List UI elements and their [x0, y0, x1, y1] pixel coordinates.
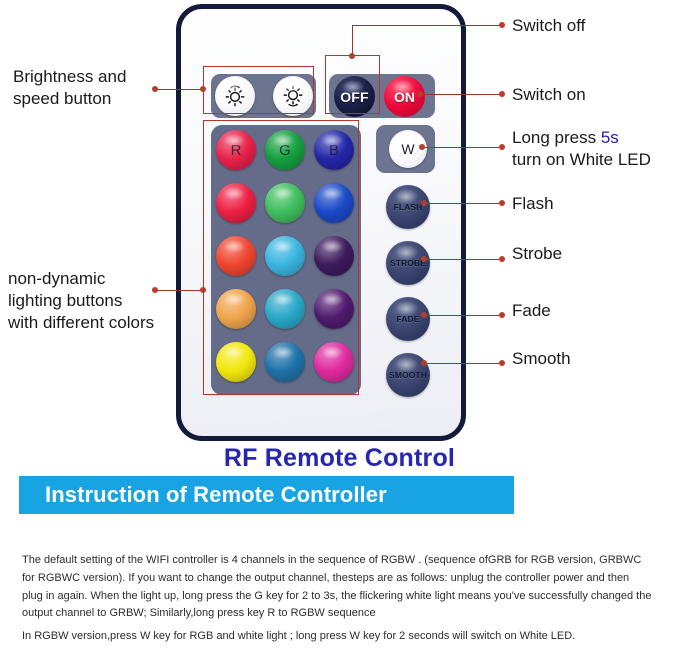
leader-line-fade: [424, 315, 502, 316]
leader-dot-smooth-target: [421, 360, 427, 366]
annotation-strobe: Strobe: [512, 243, 562, 265]
leader-line-whiteled: [422, 147, 502, 148]
color-button-blue-2[interactable]: [314, 183, 354, 223]
color-button-red[interactable]: R: [216, 130, 256, 170]
instruction-paragraph-1: The default setting of the WIFI controll…: [22, 552, 653, 623]
leader-dot-fade-text: [499, 312, 505, 318]
fade-button[interactable]: FADE: [386, 297, 430, 341]
leader-dot-switchon-text: [499, 91, 505, 97]
leader-line-flash: [424, 203, 502, 204]
annotation-non-dynamic: non-dynamic lighting buttons with differ…: [8, 268, 176, 333]
color-button-dark-purple[interactable]: [314, 236, 354, 276]
annotation-white-led-prefix: Long press: [512, 128, 601, 147]
color-button-steel-blue[interactable]: [265, 342, 305, 382]
sun-increase-icon: [279, 82, 307, 110]
brightness-up-button[interactable]: [273, 76, 313, 116]
instruction-banner: Instruction of Remote Controller: [19, 476, 514, 514]
leader-dot-flash-target: [421, 200, 427, 206]
smooth-button-label: SMOOTH: [389, 370, 427, 380]
rf-remote-control-title: RF Remote Control: [0, 444, 679, 473]
leader-dot-fade-target: [421, 312, 427, 318]
color-button-yellow[interactable]: [216, 342, 256, 382]
leader-line-smooth: [424, 363, 502, 364]
annotation-switch-off: Switch off: [512, 15, 585, 37]
leader-dot-switchoff-target: [349, 53, 355, 59]
color-button-red-2[interactable]: [216, 183, 256, 223]
annotation-white-led: Long press 5s turn on White LED: [512, 127, 677, 171]
annotation-brightness: Brightness and speed button: [13, 66, 158, 110]
on-button-label: ON: [394, 89, 415, 105]
color-button-orange-red[interactable]: [216, 236, 256, 276]
annotation-flash: Flash: [512, 193, 554, 215]
strobe-button[interactable]: STROBE: [386, 241, 430, 285]
annotation-white-led-suffix: turn on White LED: [512, 150, 651, 169]
off-button-label: OFF: [340, 89, 369, 105]
color-button-blue-label: B: [329, 142, 339, 159]
leader-dot-switchon-target: [417, 91, 423, 97]
white-button-label: W: [401, 141, 414, 157]
annotation-white-led-highlight: 5s: [601, 128, 619, 147]
leader-line-switchoff: [352, 25, 502, 26]
leader-dot-strobe-text: [499, 256, 505, 262]
leader-dot-strobe-target: [421, 256, 427, 262]
annotation-smooth: Smooth: [512, 348, 571, 370]
leader-dot-smooth-text: [499, 360, 505, 366]
sun-decrease-icon: [221, 82, 249, 110]
instruction-banner-label: Instruction of Remote Controller: [45, 482, 387, 508]
color-button-green[interactable]: G: [265, 130, 305, 170]
color-button-light-blue[interactable]: [265, 236, 305, 276]
flash-button-label: FLASH: [394, 202, 423, 212]
annotation-fade: Fade: [512, 300, 551, 322]
brightness-down-button[interactable]: [215, 76, 255, 116]
leader-dot-whiteled-target: [419, 144, 425, 150]
color-button-magenta[interactable]: [314, 342, 354, 382]
color-button-red-label: R: [231, 142, 242, 159]
annotation-switch-on: Switch on: [512, 84, 586, 106]
leader-line-brightness: [155, 89, 205, 90]
color-button-blue[interactable]: B: [314, 130, 354, 170]
color-button-green-2[interactable]: [265, 183, 305, 223]
leader-line-strobe: [424, 259, 502, 260]
fade-button-label: FADE: [396, 314, 419, 324]
leader-dot-flash-text: [499, 200, 505, 206]
remote-face: OFF ON W FLASH STROBE FADE SMOOTH: [181, 9, 461, 436]
rf-remote-device: OFF ON W FLASH STROBE FADE SMOOTH: [176, 4, 466, 441]
flash-button[interactable]: FLASH: [386, 185, 430, 229]
leader-dot-whiteled-text: [499, 144, 505, 150]
remote-instruction-page: OFF ON W FLASH STROBE FADE SMOOTH: [0, 0, 679, 652]
leader-dot-nondynamic-target: [200, 287, 206, 293]
color-button-green-label: G: [279, 142, 291, 159]
leader-dot-switchoff-text: [499, 22, 505, 28]
leader-dot-brightness-target: [200, 86, 206, 92]
color-button-purple[interactable]: [314, 289, 354, 329]
color-button-cyan[interactable]: [265, 289, 305, 329]
off-button[interactable]: OFF: [334, 76, 375, 117]
color-button-orange[interactable]: [216, 289, 256, 329]
leader-line-switchon: [420, 94, 502, 95]
instruction-paragraph-2: In RGBW version,press W key for RGB and …: [22, 628, 653, 646]
